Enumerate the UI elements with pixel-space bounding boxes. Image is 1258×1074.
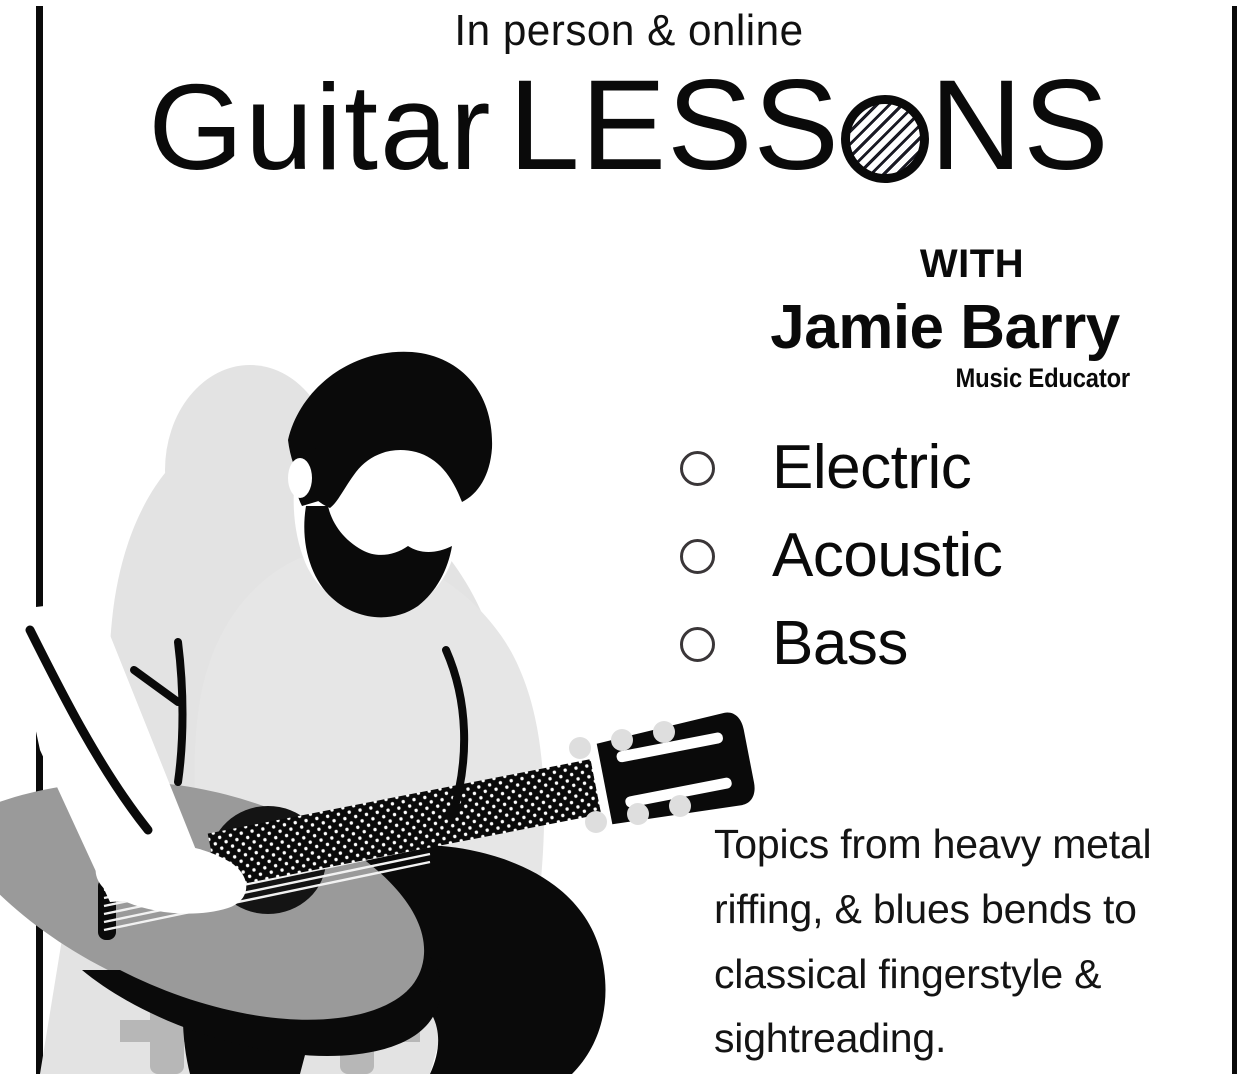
with-label: WITH [762, 242, 1182, 287]
presenter-role: Music Educator [787, 363, 1130, 394]
offering-label: Bass [772, 613, 908, 675]
kicker-text: In person & online [25, 6, 1233, 56]
guitar-lessons-poster: In person & online GuitarLESSNS WITH Jam… [0, 0, 1258, 1074]
seated-guitarist-illustration [0, 330, 780, 1074]
page-title: GuitarLESSNS [0, 62, 1258, 190]
hatched-circle-o-icon [841, 95, 929, 183]
presenter-name: Jamie Barry [735, 292, 1155, 363]
description-text: Topics from heavy metal riffing, & blues… [714, 812, 1234, 1071]
offering-label: Electric [772, 437, 971, 499]
offering-label: Acoustic [772, 525, 1002, 587]
ear-shape [288, 458, 312, 498]
headline-word-guitar: Guitar [148, 59, 492, 195]
headline-word-less: LESS [509, 54, 840, 197]
headline-word-ns: NS [930, 54, 1110, 197]
